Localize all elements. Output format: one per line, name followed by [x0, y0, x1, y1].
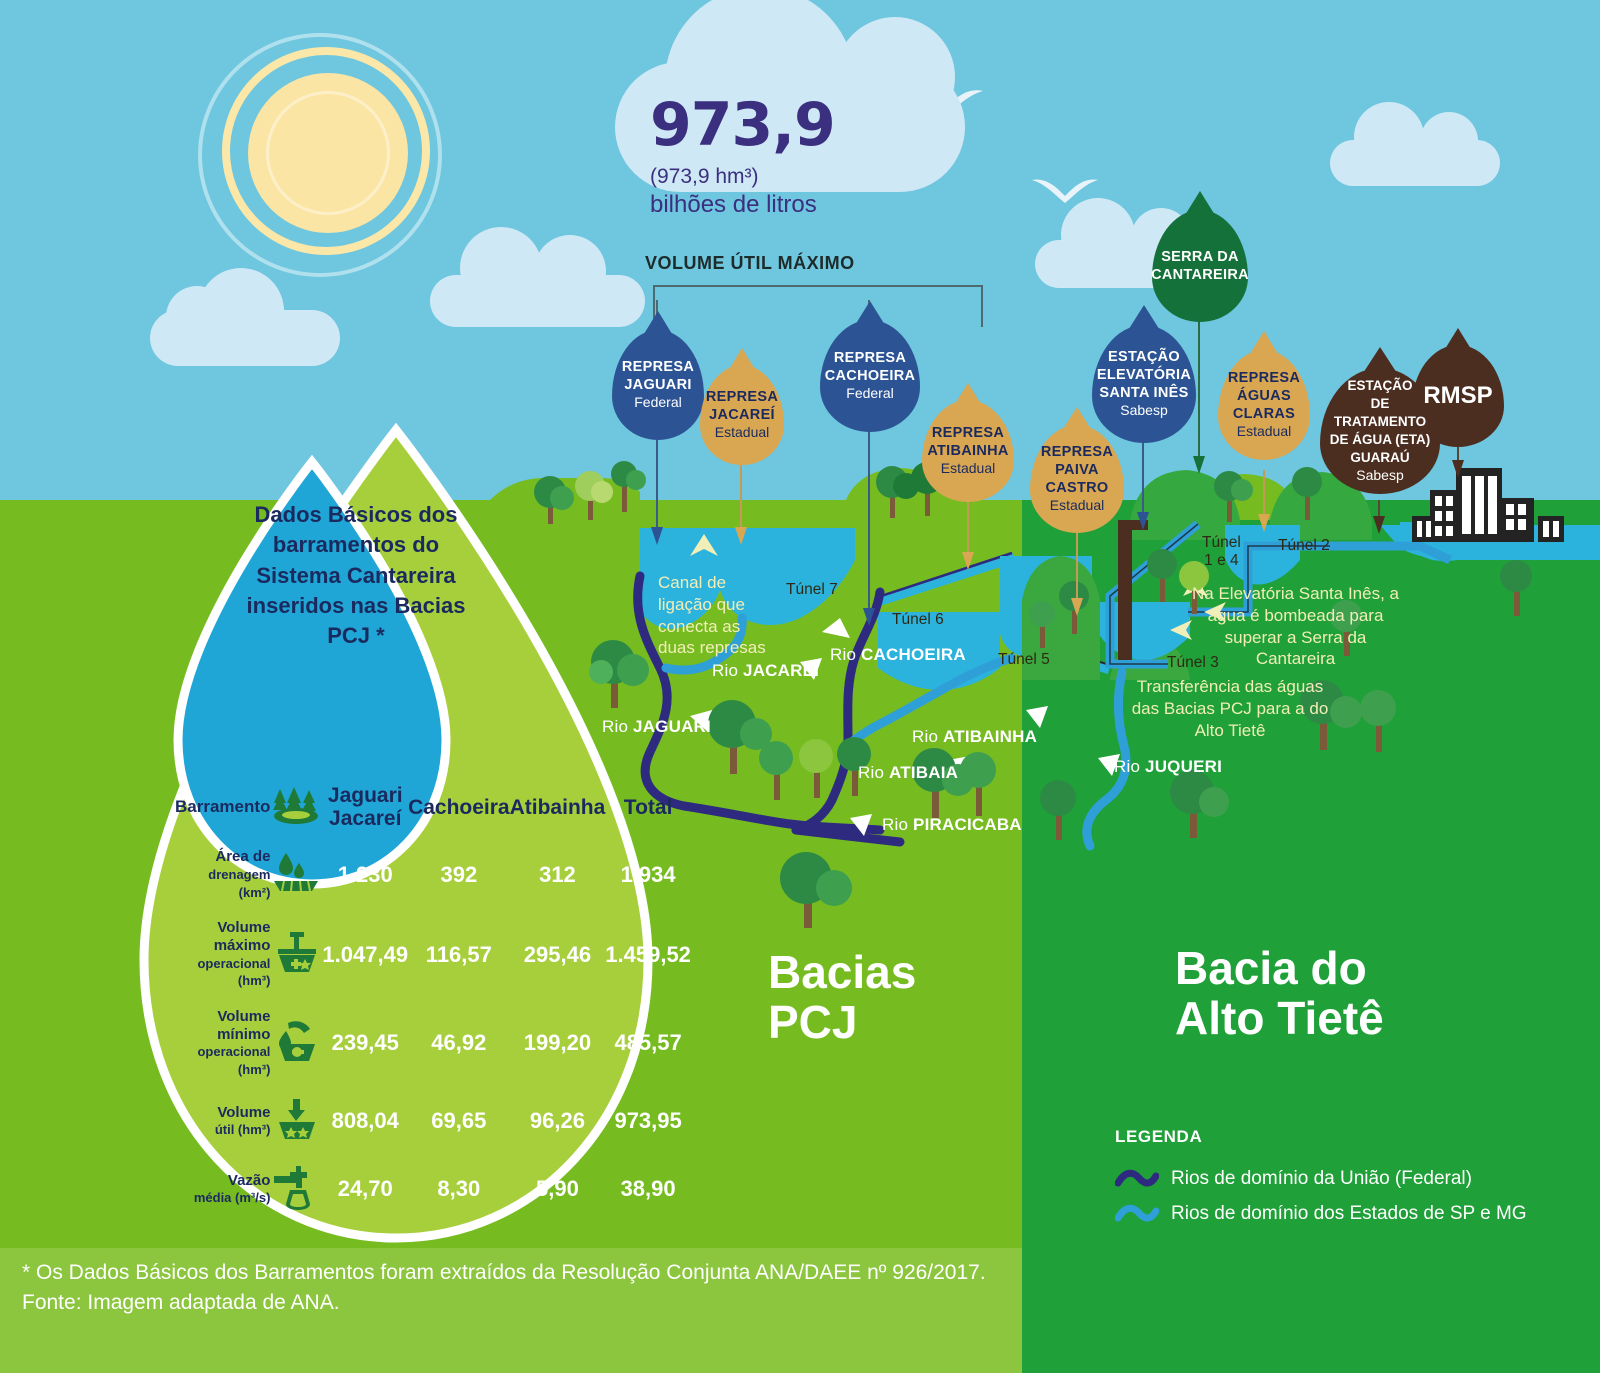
basin-title-pcj: Bacias PCJ: [768, 948, 916, 1047]
drainage-icon: [270, 839, 322, 910]
table-col-header-2: Atibainha: [510, 775, 606, 839]
cell-value: 199,20: [510, 999, 606, 1088]
cell-value: 96,26: [510, 1088, 606, 1155]
headline-text-group: 973,9 (973,9 hm³) bilhões de litros: [650, 95, 980, 219]
marker-line3: CLARAS: [1233, 406, 1295, 422]
marker-line4: Estadual: [1050, 497, 1104, 513]
note-transferencia: Transferência das águas das Bacias PCJ p…: [1130, 676, 1330, 741]
marker-line2: ELEVATÓRIA: [1097, 367, 1191, 383]
max-volume-icon: [270, 910, 322, 999]
footnote: * Os Dados Básicos dos Barramentos foram…: [22, 1258, 1022, 1319]
legend-label: Rios de domínio da União (Federal): [1171, 1168, 1472, 1190]
marker-line2: CACHOEIRA: [825, 368, 916, 384]
marker-line2: DE TRATAMENTO: [1334, 396, 1426, 429]
marker-line2: ÁGUAS: [1237, 388, 1291, 404]
basin-title-alto-tiete: Bacia do Alto Tietê: [1175, 944, 1384, 1043]
marker-line1: REPRESA: [706, 389, 778, 405]
legend-title: LEGENDA: [1115, 1127, 1202, 1147]
legend-item-federal: Rios de domínio da União (Federal): [1115, 1168, 1472, 1190]
legend-item-estadual: Rios de domínio dos Estados de SP e MG: [1115, 1203, 1527, 1225]
marker-line5: Sabesp: [1356, 467, 1403, 483]
marker-line1: REPRESA: [1228, 370, 1300, 386]
headline-number: 973,9: [650, 95, 980, 155]
cell-value: 239,45: [322, 999, 408, 1088]
marker-line4: GUARAÚ: [1350, 450, 1409, 465]
marker-line1: REPRESA: [932, 425, 1004, 441]
tunnel-label-tunel-2: Túnel 2: [1278, 537, 1330, 555]
wave-icon-federal: [1115, 1169, 1159, 1189]
row-label-1: Volume máximo operacional (hm³): [175, 910, 270, 999]
cell-value: 808,04: [322, 1088, 408, 1155]
cell-value: 8,30: [408, 1155, 510, 1224]
headline-unit-paren: (973,9 hm³): [650, 165, 980, 189]
headline-unit-text: bilhões de litros: [650, 191, 980, 219]
faucet-icon: [270, 1155, 322, 1224]
tunnel-label-tunel-5: Túnel 5: [998, 651, 1050, 669]
note-elevatoria: Na Elevatória Santa Inês, a água é bombe…: [1188, 583, 1403, 670]
marker-line4: Sabesp: [1120, 402, 1167, 418]
river-label-rio-cachoeira: Rio CACHOEIRA: [830, 645, 966, 665]
river-label-rio-juqueri: Rio JUQUERI: [1114, 757, 1222, 777]
cell-value: 312: [510, 839, 606, 910]
cell-value: 392: [408, 839, 510, 910]
cell-value: 1.230: [322, 839, 408, 910]
min-volume-icon: [270, 999, 322, 1088]
useful-volume-icon: [270, 1088, 322, 1155]
river-label-rio-atibaia: Rio ATIBAIA: [858, 763, 958, 783]
table-col-header-0: Jaguari Jacareí: [322, 775, 408, 839]
marker-line2: JACAREÍ: [709, 407, 775, 423]
cell-value: 69,65: [408, 1088, 510, 1155]
river-label-rio-atibainha: Rio ATIBAINHA: [912, 727, 1037, 747]
marker-line2: CANTAREIRA: [1151, 267, 1249, 283]
marker-line3: SANTA INÊS: [1099, 385, 1188, 401]
marker-line3: Estadual: [941, 460, 995, 476]
row-label-4: Vazão média (m³/s): [175, 1155, 270, 1224]
cell-value: 1.047,49: [322, 910, 408, 999]
river-label-rio-jacarei: Rio JACAREÍ: [712, 661, 819, 681]
tunnel-label-tunel-3: Túnel 3: [1167, 654, 1219, 672]
table-col-header-1: Cachoeira: [408, 775, 510, 839]
row-label-0: Área de drenagem (km²): [175, 839, 270, 910]
marker-line2: PAIVA: [1055, 462, 1099, 478]
tunnel-label-tunel-7: Túnel 7: [786, 581, 838, 599]
tunnel-label-tunel-6: Túnel 6: [892, 611, 944, 629]
marker-line2: ATIBAINHA: [927, 443, 1008, 459]
footnote-line-1: * Os Dados Básicos dos Barramentos foram…: [22, 1258, 1022, 1288]
marker-line1: RMSP: [1423, 382, 1492, 409]
cell-value: 1.934: [605, 839, 691, 910]
panel-title: Dados Básicos dos barramentos do Sistema…: [236, 500, 476, 652]
marker-line1: ESTAÇÃO: [1347, 378, 1412, 393]
legend-label: Rios de domínio dos Estados de SP e MG: [1171, 1203, 1527, 1225]
footnote-line-2: Fonte: Imagem adaptada de ANA.: [22, 1288, 1022, 1318]
marker-line1: ESTAÇÃO: [1108, 349, 1180, 365]
marker-line3: DE ÁGUA (ETA): [1330, 432, 1431, 447]
wave-icon-estadual: [1115, 1204, 1159, 1224]
marker-line3: Federal: [634, 394, 681, 410]
tunnel-label-tunel-1-e-4: Túnel1 e 4: [1202, 534, 1241, 570]
marker-line1: SERRA DA: [1161, 249, 1239, 265]
cell-value: 973,95: [605, 1088, 691, 1155]
marker-line3: CASTRO: [1045, 480, 1108, 496]
table-row: Volume mínimo operacional (hm³) 239,45 4…: [175, 999, 691, 1088]
table-row: Volume máximo operacional (hm³) 1.047,49…: [175, 910, 691, 999]
cell-value: 5,90: [510, 1155, 606, 1224]
marker-line1: REPRESA: [622, 359, 694, 375]
row-label-2: Volume mínimo operacional (hm³): [175, 999, 270, 1088]
river-label-rio-piracicaba: Rio PIRACICABA: [882, 815, 1022, 835]
marker-line1: REPRESA: [1041, 444, 1113, 460]
marker-line4: Estadual: [1237, 423, 1291, 439]
cell-value: 485,57: [605, 999, 691, 1088]
marker-line3: Federal: [846, 385, 893, 401]
cell-value: 38,90: [605, 1155, 691, 1224]
row-label-3: Volume útil (hm³): [175, 1088, 270, 1155]
cell-value: 1.459,52: [605, 910, 691, 999]
cell-value: 116,57: [408, 910, 510, 999]
cell-value: 46,92: [408, 999, 510, 1088]
table-header-label: Barramento: [175, 775, 270, 839]
table-header-row: Barramento Jaguari Jacareí: [175, 775, 691, 839]
marker-line3: Estadual: [715, 424, 769, 440]
cell-value: 24,70: [322, 1155, 408, 1224]
marker-line1: REPRESA: [834, 350, 906, 366]
table-row: Área de drenagem (km²) 1.230 3: [175, 839, 691, 910]
data-table: Barramento Jaguari Jacareí: [175, 775, 645, 1224]
table-col-header-3: Total: [605, 775, 691, 839]
marker-line2: JAGUARI: [624, 377, 691, 393]
table-row: Volume útil (hm³) 808,04 69,65 96,2: [175, 1088, 691, 1155]
cell-value: 295,46: [510, 910, 606, 999]
table-row: Vazão média (m³/s) 24,70 8,30 5,90 38,90: [175, 1155, 691, 1224]
reservoir-trees-icon: [270, 775, 322, 839]
